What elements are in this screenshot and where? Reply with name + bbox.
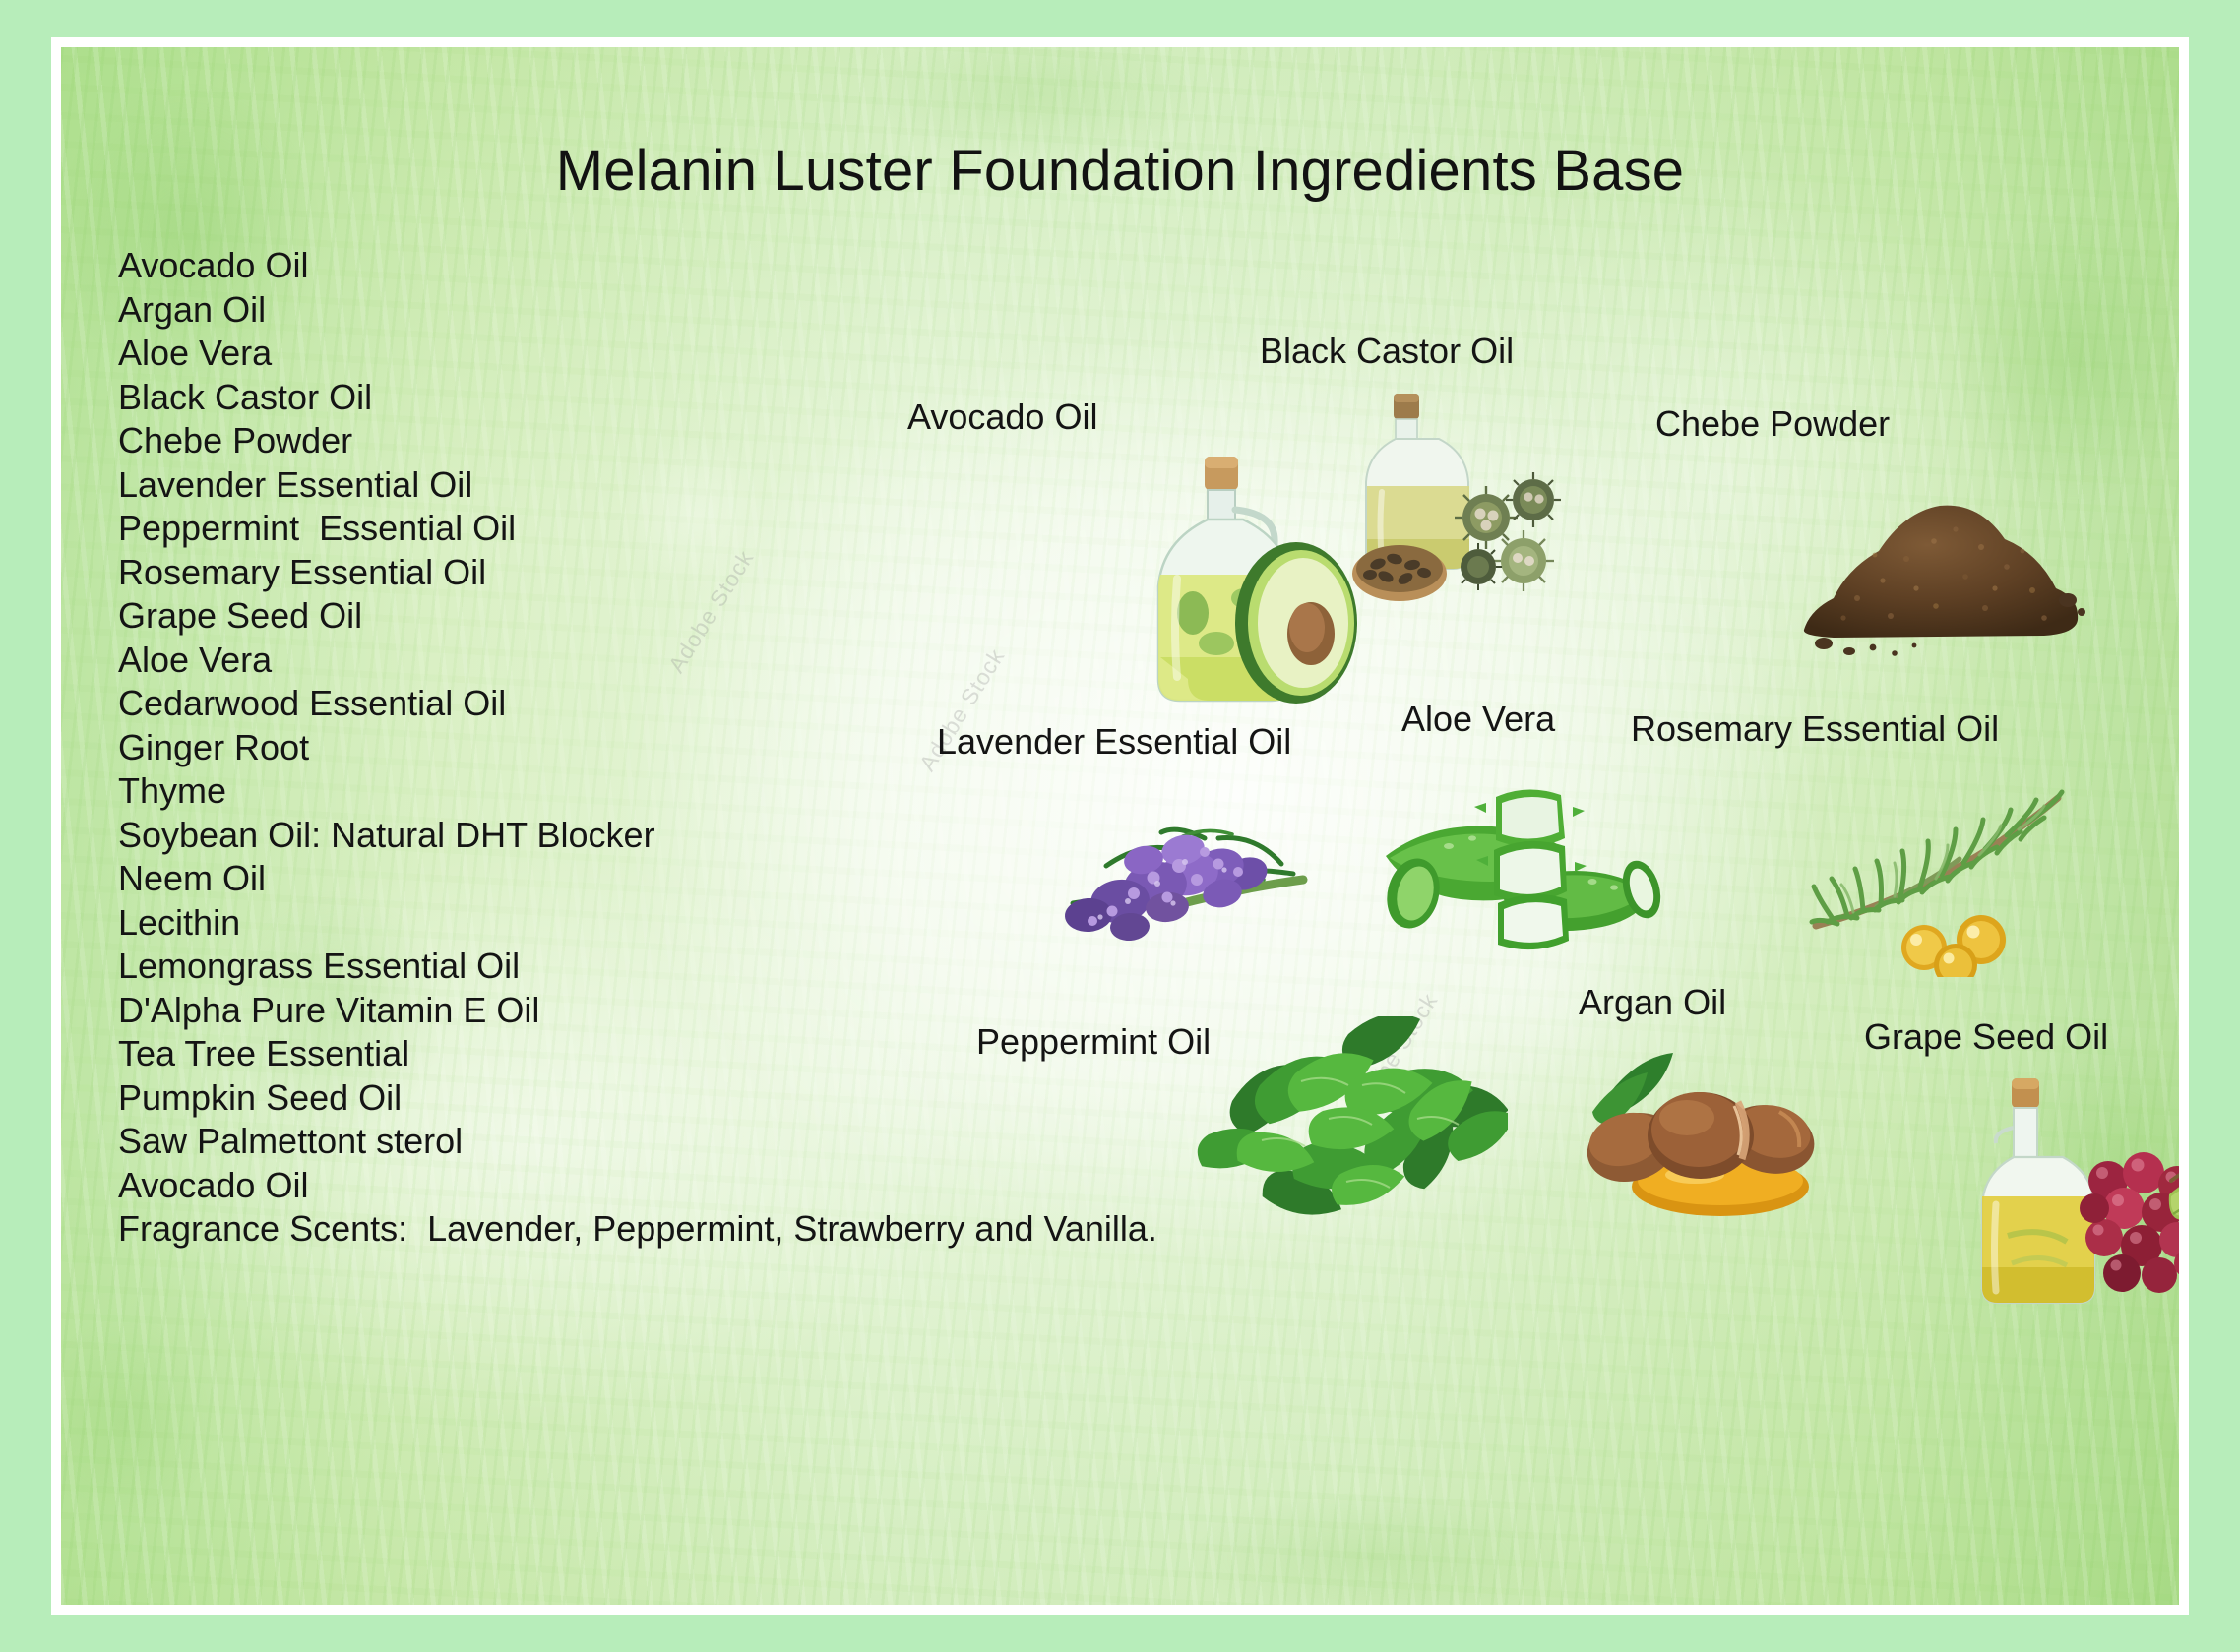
poster-content: Melanin Luster Foundation Ingredients Ba… bbox=[61, 47, 2179, 1605]
list-item: Neem Oil bbox=[118, 857, 925, 901]
figure-label-chebe-powder: Chebe Powder bbox=[1655, 403, 1890, 445]
list-item: Chebe Powder bbox=[118, 419, 925, 463]
list-item: Lemongrass Essential Oil bbox=[118, 945, 925, 989]
list-item: Peppermint Essential Oil bbox=[118, 507, 925, 551]
list-item: Ginger Root bbox=[118, 726, 925, 770]
list-item: Argan Oil bbox=[118, 288, 925, 333]
list-item: D'Alpha Pure Vitamin E Oil bbox=[118, 989, 925, 1033]
grapeseed-oil-bottle-grapes-icon bbox=[1960, 1071, 2179, 1321]
list-item: Thyme bbox=[118, 769, 925, 814]
list-item: Rosemary Essential Oil bbox=[118, 551, 925, 595]
figure-label-rosemary-essential-oil: Rosemary Essential Oil bbox=[1631, 708, 1999, 750]
figure-label-argan-oil: Argan Oil bbox=[1579, 982, 1726, 1023]
peppermint-leaves-icon bbox=[1193, 1016, 1508, 1228]
list-item: Cedarwood Essential Oil bbox=[118, 682, 925, 726]
figure-label-black-castor-oil: Black Castor Oil bbox=[1260, 331, 1514, 372]
list-item: Lecithin bbox=[118, 901, 925, 946]
list-item: Tea Tree Essential bbox=[118, 1032, 925, 1076]
list-item: Lavender Essential Oil bbox=[118, 463, 925, 508]
list-item: Black Castor Oil bbox=[118, 376, 925, 420]
list-item: Avocado Oil bbox=[118, 244, 925, 288]
list-item: Grape Seed Oil bbox=[118, 594, 925, 639]
ingredient-list: Avocado Oil Argan Oil Aloe Vera Black Ca… bbox=[118, 244, 925, 1252]
list-item: Soybean Oil: Natural DHT Blocker bbox=[118, 814, 925, 858]
page-title: Melanin Luster Foundation Ingredients Ba… bbox=[61, 138, 2179, 204]
fragrance-line: Fragrance Scents: Lavender, Peppermint, … bbox=[118, 1207, 925, 1252]
list-item: Saw Palmettont sterol bbox=[118, 1120, 925, 1164]
poster-canvas: Melanin Luster Foundation Ingredients Ba… bbox=[61, 47, 2179, 1605]
lavender-sprig-icon bbox=[1035, 795, 1331, 977]
list-item: Pumpkin Seed Oil bbox=[118, 1076, 925, 1121]
figure-label-aloe-vera: Aloe Vera bbox=[1401, 699, 1555, 740]
figure-label-peppermint-oil: Peppermint Oil bbox=[976, 1021, 1211, 1063]
avocado-oil-bottle-icon bbox=[1114, 451, 1360, 721]
figure-label-grape-seed-oil: Grape Seed Oil bbox=[1864, 1016, 2108, 1058]
chebe-powder-mound-icon bbox=[1788, 460, 2093, 672]
rosemary-sprig-droplets-icon bbox=[1808, 780, 2093, 982]
figure-label-avocado-oil: Avocado Oil bbox=[907, 397, 1097, 438]
castor-oil-bottle-seeds-icon bbox=[1340, 392, 1567, 613]
list-item: Avocado Oil bbox=[118, 1164, 925, 1208]
aloe-vera-leaves-icon bbox=[1370, 756, 1665, 957]
argan-nuts-oil-icon bbox=[1577, 1031, 1823, 1233]
figure-label-lavender-essential-oil: Lavender Essential Oil bbox=[937, 721, 1291, 763]
poster-root: Melanin Luster Foundation Ingredients Ba… bbox=[0, 0, 2240, 1652]
list-item: Aloe Vera bbox=[118, 332, 925, 376]
list-item: Aloe Vera bbox=[118, 639, 925, 683]
